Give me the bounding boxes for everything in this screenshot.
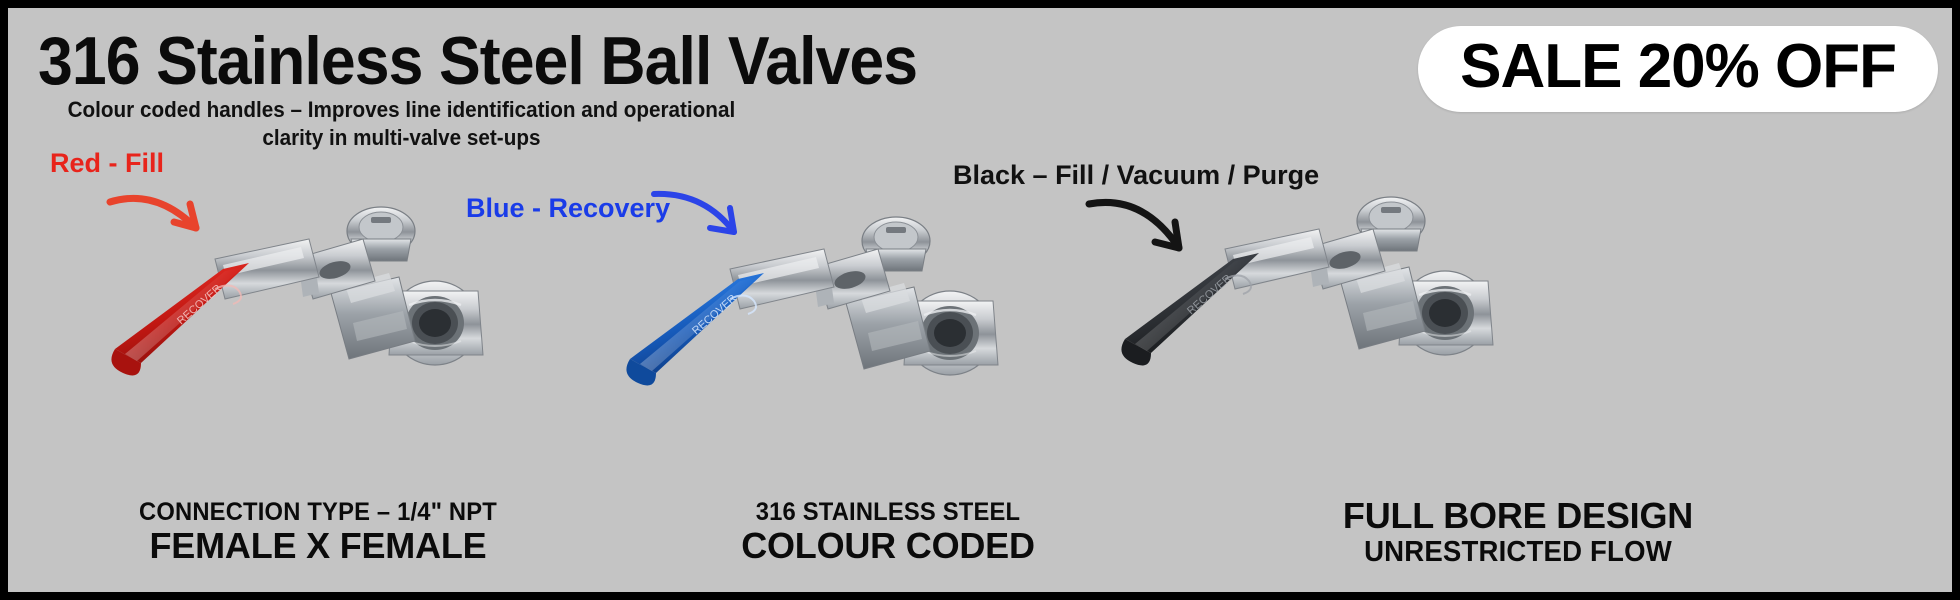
curved-arrow-down-right-icon: [648, 186, 768, 256]
caption-small-text: 316 STAINLESS STEEL: [622, 498, 1154, 526]
caption-small-text: CONNECTION TYPE – 1/4" NPT: [52, 498, 584, 526]
caption-big-text: FULL BORE DESIGN: [1188, 496, 1848, 536]
callout-label-red: Red - Fill: [50, 148, 164, 179]
sale-badge[interactable]: SALE 20% OFF: [1418, 26, 1938, 112]
curved-arrow-down-right-icon: [1083, 188, 1213, 268]
sale-badge-label: SALE 20% OFF: [1460, 36, 1896, 98]
subtitle-line-2: clarity in multi-valve set-ups: [63, 124, 740, 152]
caption-small-text: UNRESTRICTED FLOW: [1205, 536, 1832, 568]
product-promo-banner: 316 Stainless Steel Ball Valves Colour c…: [0, 0, 1960, 600]
curved-arrow-down-right-icon: [104, 180, 234, 252]
valve-handle-grip: RECOVER: [626, 273, 764, 385]
valve-handle-grip: RECOVER: [1121, 253, 1259, 365]
page-title: 316 Stainless Steel Ball Valves: [38, 22, 917, 100]
caption-material: 316 STAINLESS STEEL COLOUR CODED: [608, 498, 1168, 566]
subtitle-line-1: Colour coded handles – Improves line ide…: [63, 96, 740, 124]
caption-big-text: FEMALE X FEMALE: [38, 526, 598, 566]
callout-label-black: Black – Fill / Vacuum / Purge: [953, 160, 1319, 191]
caption-big-text: COLOUR CODED: [608, 526, 1168, 566]
callout-label-blue: Blue - Recovery: [466, 193, 670, 224]
caption-bore-design: FULL BORE DESIGN UNRESTRICTED FLOW: [1188, 496, 1848, 569]
subtitle: Colour coded handles – Improves line ide…: [63, 96, 740, 152]
caption-connection-type: CONNECTION TYPE – 1/4" NPT FEMALE X FEMA…: [38, 498, 598, 566]
valve-handle-grip: RECOVER: [111, 263, 249, 375]
